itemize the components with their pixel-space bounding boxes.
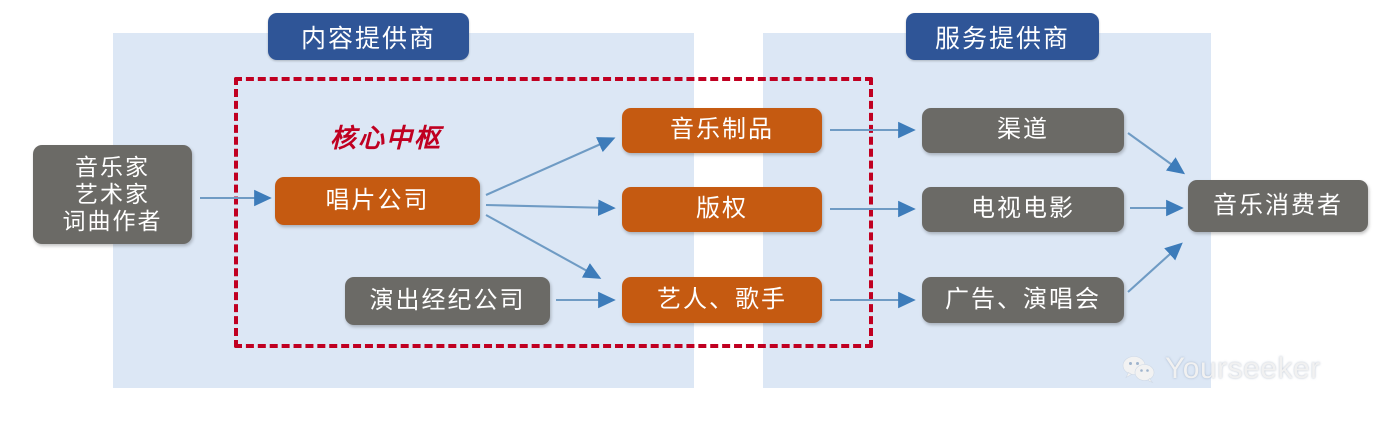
node-performance-agency-text: 演出经纪公司 <box>370 287 526 315</box>
node-copyright[interactable]: 版权 <box>622 187 822 232</box>
node-record-label-text: 唱片公司 <box>326 187 430 215</box>
node-performance-agency[interactable]: 演出经纪公司 <box>345 277 550 325</box>
node-record-label[interactable]: 唱片公司 <box>275 177 480 225</box>
node-artists-singers[interactable]: 艺人、歌手 <box>622 277 822 323</box>
node-creators-line-1: 音乐家 <box>75 154 150 181</box>
node-music-consumers-text: 音乐消费者 <box>1213 192 1343 220</box>
node-music-consumers[interactable]: 音乐消费者 <box>1188 180 1368 232</box>
node-copyright-text: 版权 <box>696 195 748 223</box>
wechat-icon <box>1122 354 1156 384</box>
node-tv-film-text: 电视电影 <box>971 195 1075 223</box>
node-creators[interactable]: 音乐家 艺术家 词曲作者 <box>33 145 192 244</box>
node-artists-singers-text: 艺人、歌手 <box>657 286 787 314</box>
header-service-provider[interactable]: 服务提供商 <box>906 13 1099 60</box>
node-ads-concerts[interactable]: 广告、演唱会 <box>922 277 1124 323</box>
node-channel[interactable]: 渠道 <box>922 108 1124 153</box>
node-creators-line-3: 词曲作者 <box>63 208 163 235</box>
node-music-products[interactable]: 音乐制品 <box>622 108 822 153</box>
header-content-provider-label: 内容提供商 <box>301 19 436 55</box>
node-tv-film[interactable]: 电视电影 <box>922 187 1124 232</box>
diagram-canvas: 内容提供商 服务提供商 核心中枢 音乐家 艺术家 词曲作者 唱片公司 演出经纪公… <box>0 0 1397 427</box>
node-channel-text: 渠道 <box>997 116 1049 144</box>
watermark: Yourseeker <box>1122 352 1321 386</box>
node-ads-concerts-text: 广告、演唱会 <box>945 286 1101 314</box>
header-content-provider[interactable]: 内容提供商 <box>268 13 469 60</box>
watermark-text: Yourseeker <box>1165 352 1321 386</box>
core-hub-caption: 核心中枢 <box>330 118 442 155</box>
node-music-products-text: 音乐制品 <box>670 116 774 144</box>
header-service-provider-label: 服务提供商 <box>935 19 1070 55</box>
node-creators-line-2: 艺术家 <box>75 181 150 208</box>
